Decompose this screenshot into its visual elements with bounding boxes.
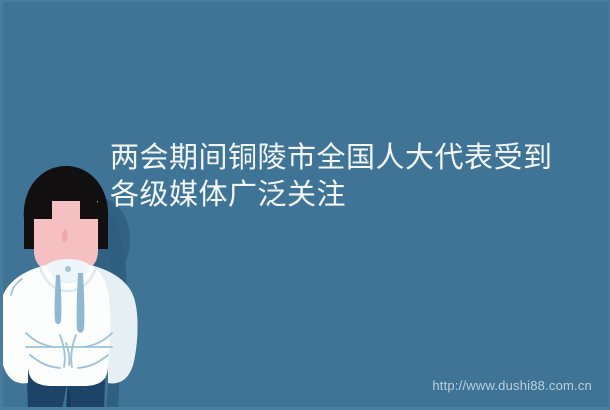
headline-line-2: 各级媒体广泛关注 bbox=[110, 177, 590, 214]
hoodie bbox=[0, 259, 138, 386]
headline: 两会期间铜陵市全国人大代表受到 各级媒体广泛关注 bbox=[110, 140, 590, 214]
headline-line-1: 两会期间铜陵市全国人大代表受到 bbox=[110, 140, 590, 177]
watermark-url: http://www.dushi88.com.cn bbox=[432, 378, 592, 393]
news-banner: 两会期间铜陵市全国人大代表受到 各级媒体广泛关注 http://www.dush… bbox=[0, 0, 610, 410]
